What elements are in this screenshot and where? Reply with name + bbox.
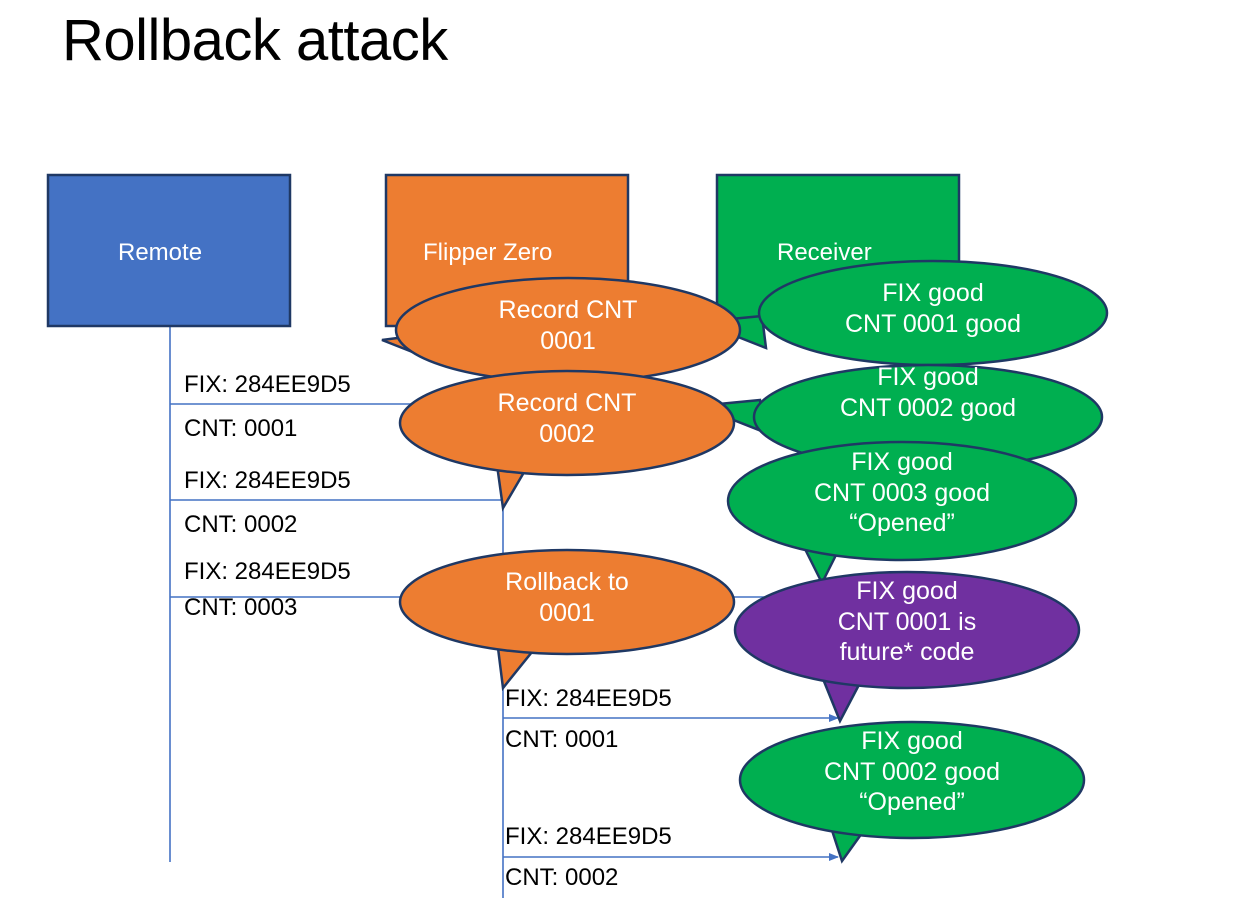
- callout-text-c7: FIX good CNT 0001 is future* code: [735, 576, 1079, 668]
- callout-text-c4: FIX good CNT 0001 good: [759, 278, 1107, 339]
- message-cnt-m1: CNT: 0001: [184, 415, 297, 443]
- message-fix-m1: FIX: 284EE9D5: [184, 371, 351, 399]
- message-cnt-m2: CNT: 0002: [184, 511, 297, 539]
- message-fix-m2: FIX: 284EE9D5: [184, 467, 351, 495]
- callout-text-c1: Record CNT 0001: [398, 295, 738, 356]
- actor-label-remote: Remote: [118, 239, 202, 267]
- actor-label-flipper: Flipper Zero: [423, 239, 552, 267]
- message-fix-m3: FIX: 284EE9D5: [184, 558, 351, 586]
- actor-label-receiver: Receiver: [777, 239, 872, 267]
- message-cnt-m4: CNT: 0001: [505, 726, 618, 754]
- callout-text-c8: FIX good CNT 0002 good “Opened”: [740, 726, 1084, 818]
- message-fix-m4: FIX: 284EE9D5: [505, 685, 672, 713]
- slide-canvas: Rollback attack: [0, 0, 1233, 898]
- message-cnt-m3: CNT: 0003: [184, 594, 297, 622]
- message-cnt-m5: CNT: 0002: [505, 864, 618, 892]
- callout-text-c2: Record CNT 0002: [400, 388, 734, 449]
- callout-text-c6: FIX good CNT 0003 good “Opened”: [728, 447, 1076, 539]
- callout-text-c3: Rollback to 0001: [400, 567, 734, 628]
- callout-text-c5: FIX good CNT 0002 good: [754, 362, 1102, 423]
- message-fix-m5: FIX: 284EE9D5: [505, 823, 672, 851]
